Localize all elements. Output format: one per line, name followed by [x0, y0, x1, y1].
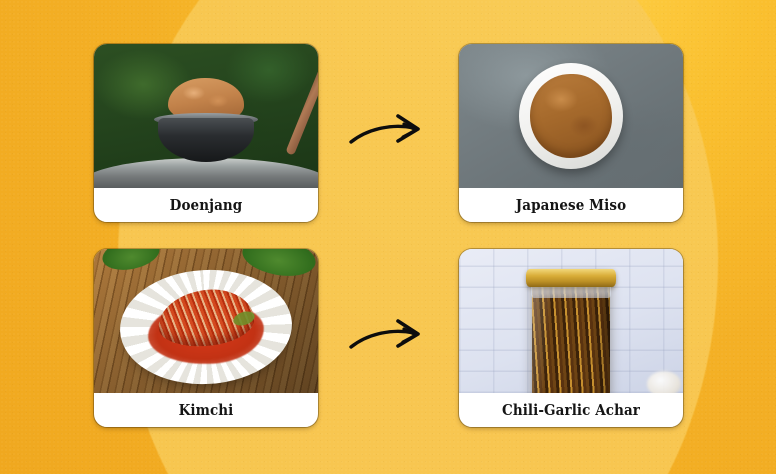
card-japanese-miso[interactable]: Japanese Miso	[459, 44, 683, 222]
card-label-chili-garlic-achar: Chili-Garlic Achar	[467, 393, 675, 427]
miso-paste	[530, 74, 612, 158]
card-chili-garlic-achar[interactable]: Chili-Garlic Achar	[459, 249, 683, 427]
curved-right-arrow-icon-row1	[348, 110, 434, 156]
card-kimchi[interactable]: Kimchi	[94, 249, 318, 427]
card-doenjang[interactable]: Doenjang	[94, 44, 318, 222]
photo-doenjang	[94, 44, 318, 188]
photo-japanese-miso	[459, 44, 683, 188]
curved-right-arrow-icon-row2	[348, 315, 434, 361]
card-label-kimchi: Kimchi	[102, 393, 310, 427]
achar-jar-lid	[526, 269, 616, 287]
doenjang-bowl	[158, 118, 254, 162]
doenjang-wooden-spoon	[285, 54, 318, 156]
card-label-japanese-miso: Japanese Miso	[467, 188, 675, 222]
achar-garlic-bulb	[647, 371, 681, 393]
photo-kimchi	[94, 249, 318, 393]
photo-chili-garlic-achar	[459, 249, 683, 393]
card-label-doenjang: Doenjang	[102, 188, 310, 222]
comparison-infographic: Doenjang Japanese Miso Kimchi	[0, 0, 776, 474]
doenjang-tabletop	[94, 158, 318, 188]
